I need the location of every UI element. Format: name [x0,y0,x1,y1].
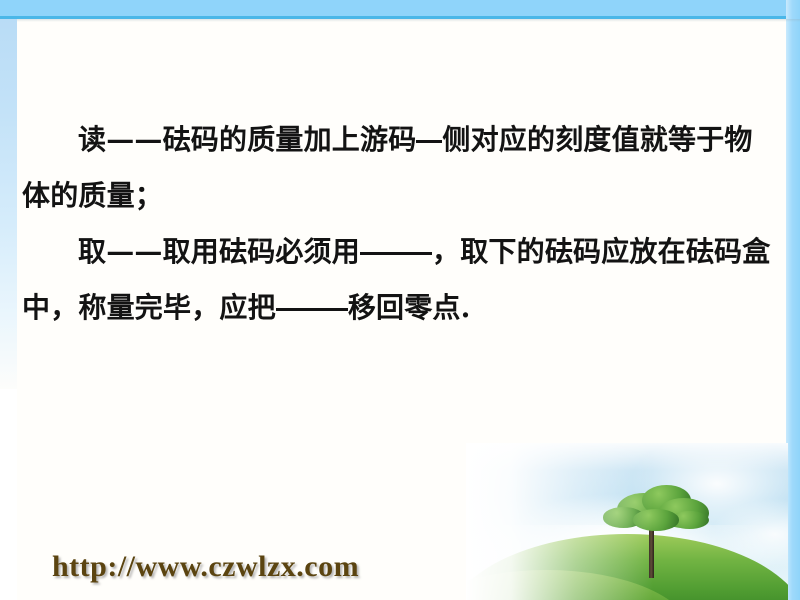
fill-in-blank-1 [416,124,442,143]
fill-in-blank-3 [276,292,348,311]
site-url-text: http://www.czwlzx.com [52,550,359,584]
slide-top-border [0,0,800,17]
slide-body-text: 读——砝码的质量加上游码侧对应的刻度值就等于物体的质量； 取——取用砝码必须用，… [22,112,778,336]
photo-left-fade [466,443,788,600]
read-step-text-before-blank: 读——砝码的质量加上游码 [78,123,416,156]
take-step-text-1: 取——取用砝码必须用 [78,235,360,268]
slide-right-border [786,0,800,600]
paragraph-read-step: 读——砝码的质量加上游码侧对应的刻度值就等于物体的质量； [22,112,778,224]
fill-in-blank-2 [360,236,432,255]
tree-landscape-photo [466,443,788,600]
presentation-slide: 读——砝码的质量加上游码侧对应的刻度值就等于物体的质量； 取——取用砝码必须用，… [0,0,800,600]
take-step-text-3: 移回零点. [348,291,471,324]
slide-inner-shadow [17,19,800,22]
slide-left-border [0,19,17,389]
paragraph-take-step: 取——取用砝码必须用，取下的砝码应放在砝码盒中，称量完毕，应把移回零点. [22,224,778,336]
